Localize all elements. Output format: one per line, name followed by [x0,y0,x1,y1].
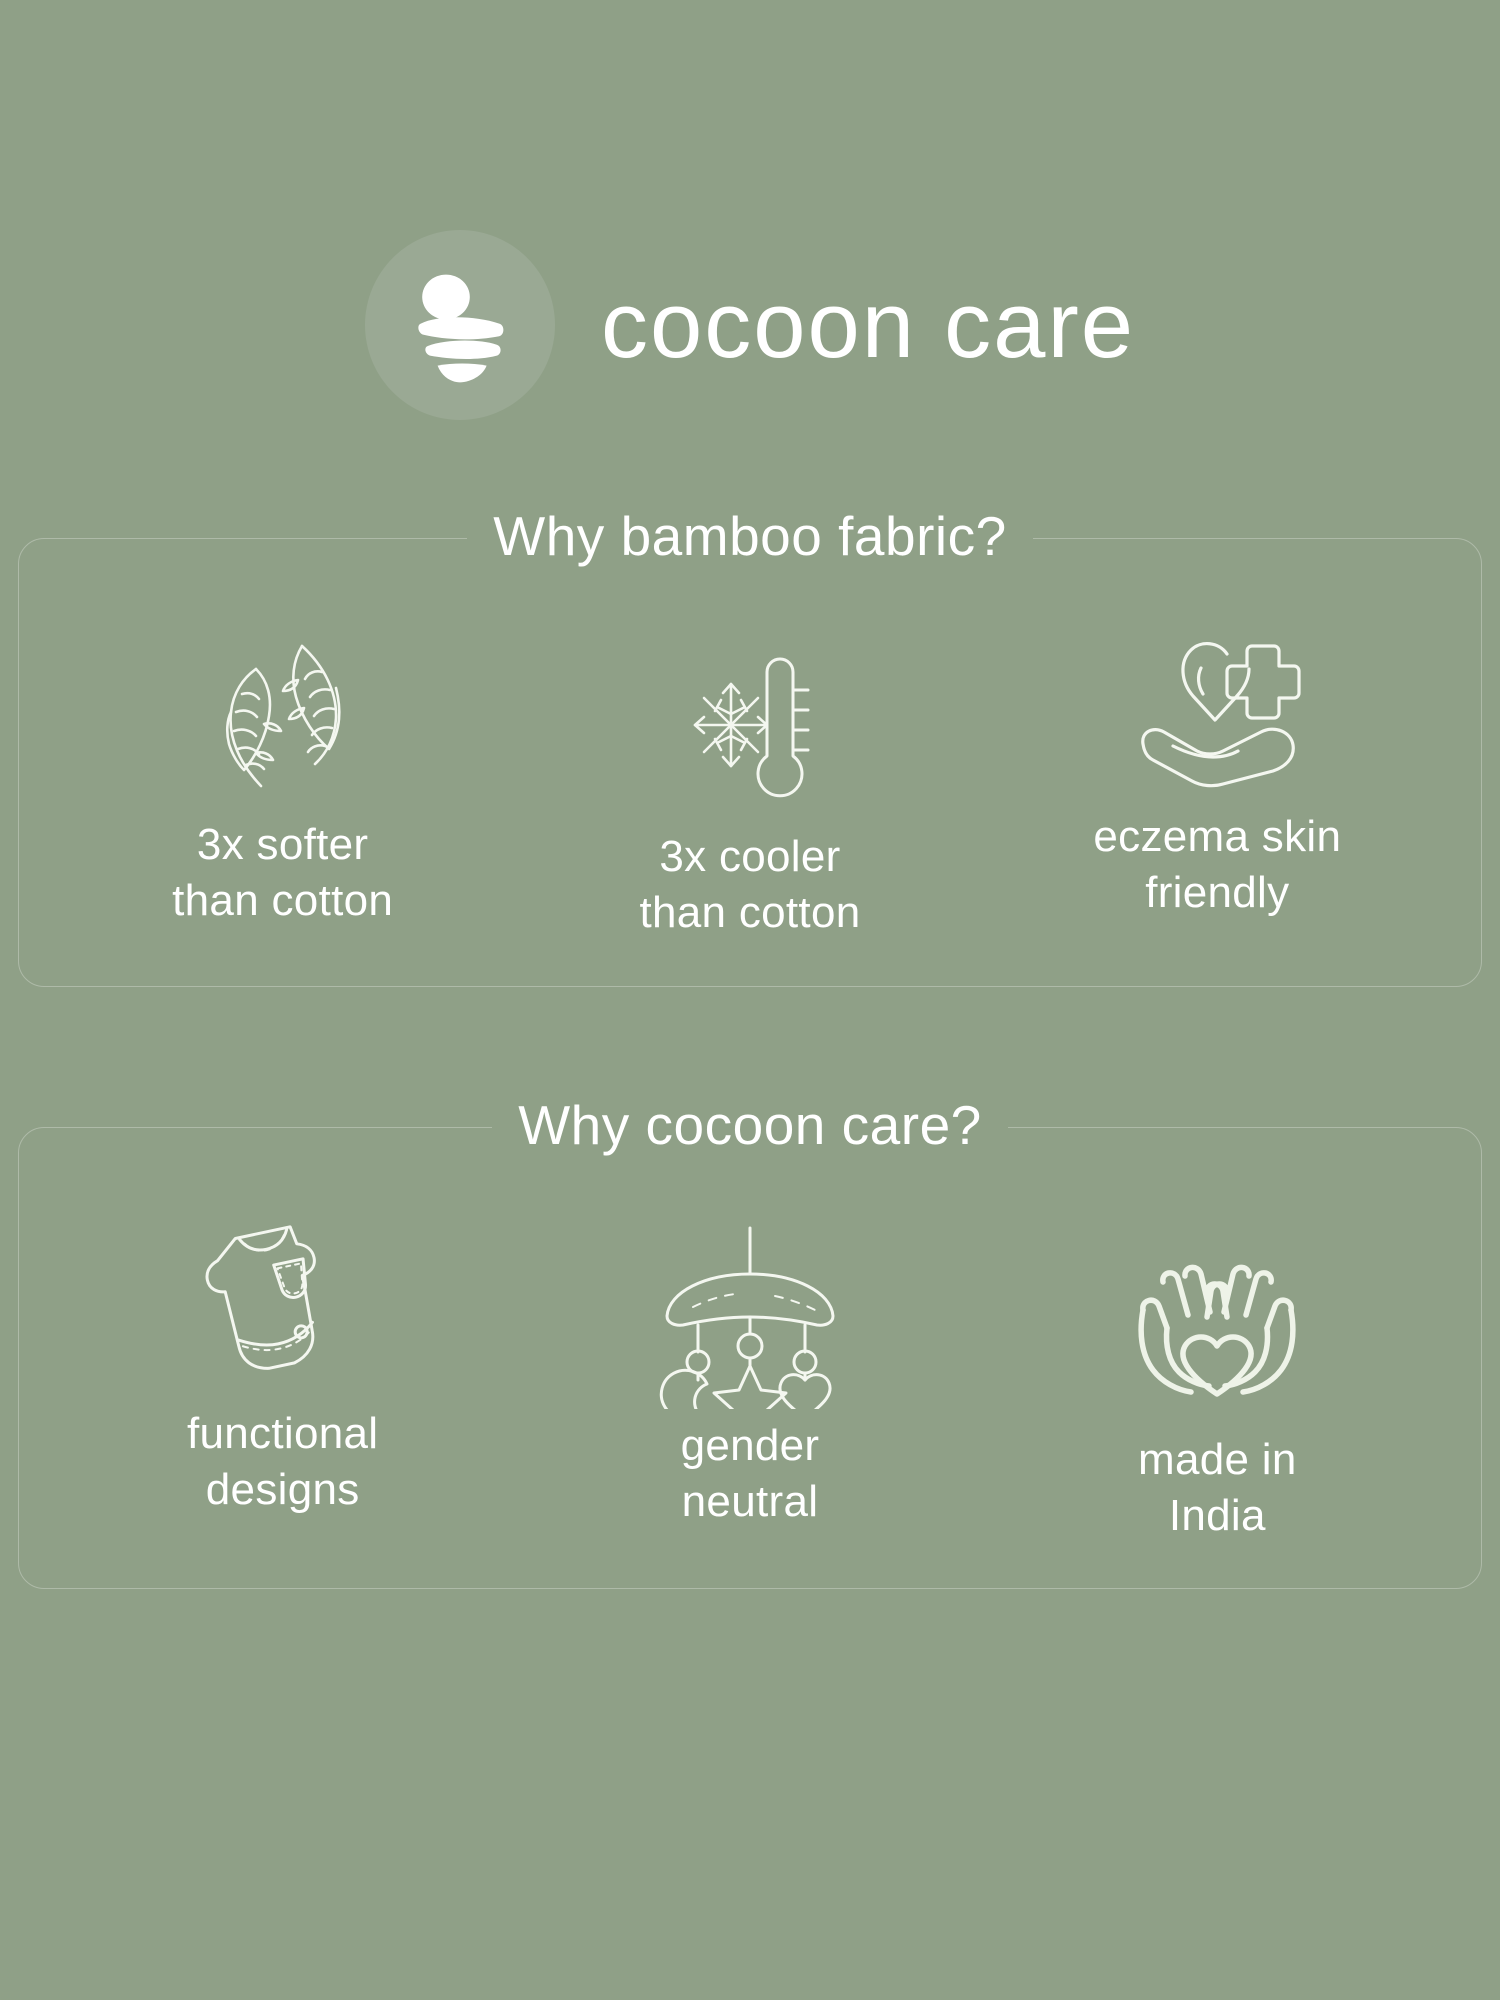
section-why-cocoon-care: Why cocoon care? [18,1127,1482,1590]
section-frame-cocoon-care: functional designs [18,1127,1482,1590]
brand-logo-badge [365,230,555,420]
brand-header: cocoon care [0,0,1500,420]
feature-made-in-india: made in India [984,1246,1451,1545]
feature-label: gender neutral [681,1418,820,1531]
feature-label: made in India [1138,1432,1297,1545]
feature-eczema-skin-friendly: eczema skin friendly [984,623,1451,922]
hand-heart-cross-icon [1127,623,1307,793]
thermometer-snowflake-icon [675,643,825,813]
feature-3x-softer: 3x softer than cotton [49,631,516,930]
feature-3x-cooler: 3x cooler than cotton [516,643,983,942]
feature-row-cocoon-care: functional designs [49,1220,1451,1545]
feature-label: 3x cooler than cotton [639,829,860,942]
feature-label: 3x softer than cotton [172,817,393,930]
feature-gender-neutral: gender neutral [516,1232,983,1531]
swaddled-baby-logo-icon [390,255,530,395]
hands-heart-icon [1127,1246,1307,1416]
two-feathers-icon [198,631,368,801]
section-why-bamboo-fabric: Why bamboo fabric? [18,538,1482,987]
section-frame-bamboo: 3x softer than cotton [18,538,1482,987]
feature-row-bamboo: 3x softer than cotton [49,631,1451,942]
crib-mobile-icon [655,1232,845,1402]
feature-label: eczema skin friendly [1093,809,1341,922]
brand-wordmark: cocoon care [601,278,1135,372]
feature-functional-designs: functional designs [49,1220,516,1519]
baby-onesie-icon [198,1220,368,1390]
feature-label: functional designs [187,1406,378,1519]
